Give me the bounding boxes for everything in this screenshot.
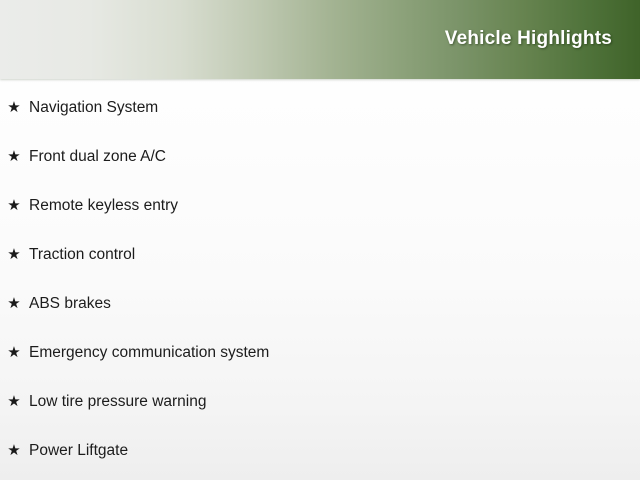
- list-item-label: Front dual zone A/C: [29, 142, 166, 171]
- list-item: ★ Power Liftgate: [0, 436, 640, 480]
- list-item: ★ Emergency communication system: [0, 338, 640, 387]
- list-item: ★ Front dual zone A/C: [0, 142, 640, 191]
- list-item: ★ Low tire pressure warning: [0, 387, 640, 436]
- list-item-label: Remote keyless entry: [29, 191, 178, 220]
- list-item-label: Power Liftgate: [29, 436, 128, 465]
- list-item: ★ ABS brakes: [0, 289, 640, 338]
- star-icon: ★: [6, 289, 22, 318]
- vehicle-highlights-slide: Vehicle Highlights ★ Navigation System ★…: [0, 0, 640, 480]
- list-item-label: Navigation System: [29, 93, 158, 122]
- list-item-label: Traction control: [29, 240, 135, 269]
- star-icon: ★: [6, 240, 22, 269]
- star-icon: ★: [6, 142, 22, 171]
- star-icon: ★: [6, 338, 22, 367]
- list-item-label: Emergency communication system: [29, 338, 269, 367]
- list-item-label: Low tire pressure warning: [29, 387, 206, 416]
- list-item: ★ Remote keyless entry: [0, 191, 640, 240]
- list-item: ★ Navigation System: [0, 93, 640, 142]
- list-item: ★ Traction control: [0, 240, 640, 289]
- star-icon: ★: [6, 93, 22, 122]
- vehicle-highlights-list: ★ Navigation System ★ Front dual zone A/…: [0, 93, 640, 480]
- header-banner: Vehicle Highlights: [0, 0, 640, 79]
- star-icon: ★: [6, 387, 22, 416]
- star-icon: ★: [6, 191, 22, 220]
- page-title: Vehicle Highlights: [445, 28, 612, 50]
- list-item-label: ABS brakes: [29, 289, 111, 318]
- star-icon: ★: [6, 436, 22, 465]
